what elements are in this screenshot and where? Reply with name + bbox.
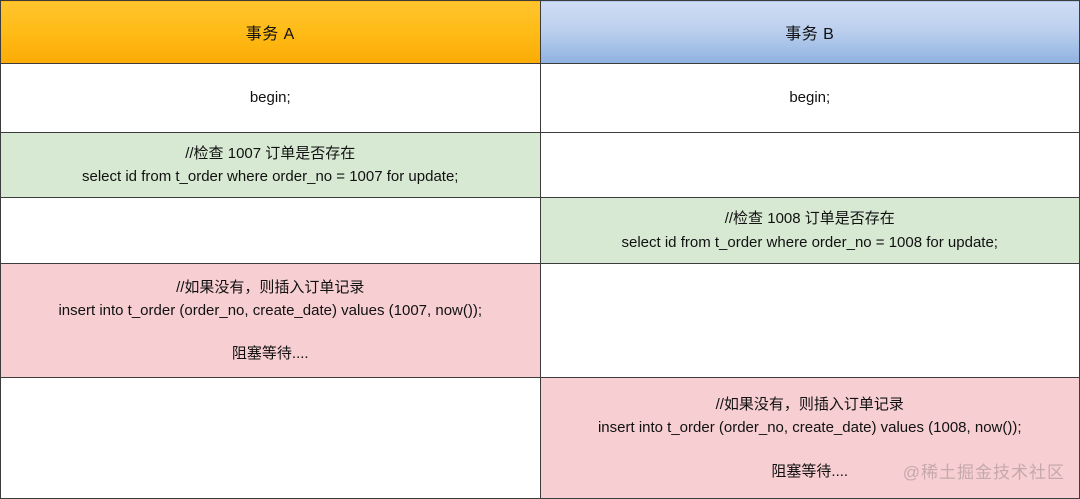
- cell-empty-b: [540, 133, 1080, 198]
- table-row: //如果没有，则插入订单记录 insert into t_order (orde…: [1, 264, 1080, 378]
- cell-begin-b: begin;: [540, 64, 1080, 133]
- cell-empty-a: [1, 198, 541, 264]
- cell-line-spacer: [1, 322, 540, 342]
- cell-line: begin;: [1, 86, 540, 109]
- table-header-row: 事务 A 事务 B: [1, 1, 1080, 64]
- cell-select-a: //检查 1007 订单是否存在 select id from t_order …: [1, 133, 541, 198]
- cell-select-b: //检查 1008 订单是否存在 select id from t_order …: [540, 198, 1080, 264]
- table-row: //如果没有，则插入订单记录 insert into t_order (orde…: [1, 378, 1080, 499]
- cell-line-comment: //如果没有，则插入订单记录: [541, 393, 1080, 416]
- table-row: begin; begin;: [1, 64, 1080, 133]
- cell-line-comment: //检查 1008 订单是否存在: [541, 207, 1080, 230]
- cell-line-spacer: [541, 440, 1080, 460]
- cell-line-blocked: 阻塞等待....: [1, 342, 540, 365]
- cell-begin-a: begin;: [1, 64, 541, 133]
- cell-empty-b: [540, 264, 1080, 378]
- table-row: //检查 1007 订单是否存在 select id from t_order …: [1, 133, 1080, 198]
- cell-line-comment: //如果没有，则插入订单记录: [1, 276, 540, 299]
- cell-line-sql: insert into t_order (order_no, create_da…: [541, 416, 1080, 439]
- cell-insert-a: //如果没有，则插入订单记录 insert into t_order (orde…: [1, 264, 541, 378]
- cell-line-sql: insert into t_order (order_no, create_da…: [1, 299, 540, 322]
- cell-line-comment: //检查 1007 订单是否存在: [1, 142, 540, 165]
- cell-insert-b: //如果没有，则插入订单记录 insert into t_order (orde…: [540, 378, 1080, 499]
- cell-line-sql: select id from t_order where order_no = …: [1, 165, 540, 188]
- cell-line-blocked: 阻塞等待....: [541, 460, 1080, 483]
- cell-line: begin;: [541, 86, 1080, 109]
- cell-line-sql: select id from t_order where order_no = …: [541, 231, 1080, 254]
- deadlock-sequence-table: 事务 A 事务 B begin; begin; //检查 1007 订单是否存在…: [0, 0, 1080, 499]
- column-header-transaction-b: 事务 B: [540, 1, 1080, 64]
- cell-empty-a: [1, 378, 541, 499]
- table-row: //检查 1008 订单是否存在 select id from t_order …: [1, 198, 1080, 264]
- column-header-transaction-a: 事务 A: [1, 1, 541, 64]
